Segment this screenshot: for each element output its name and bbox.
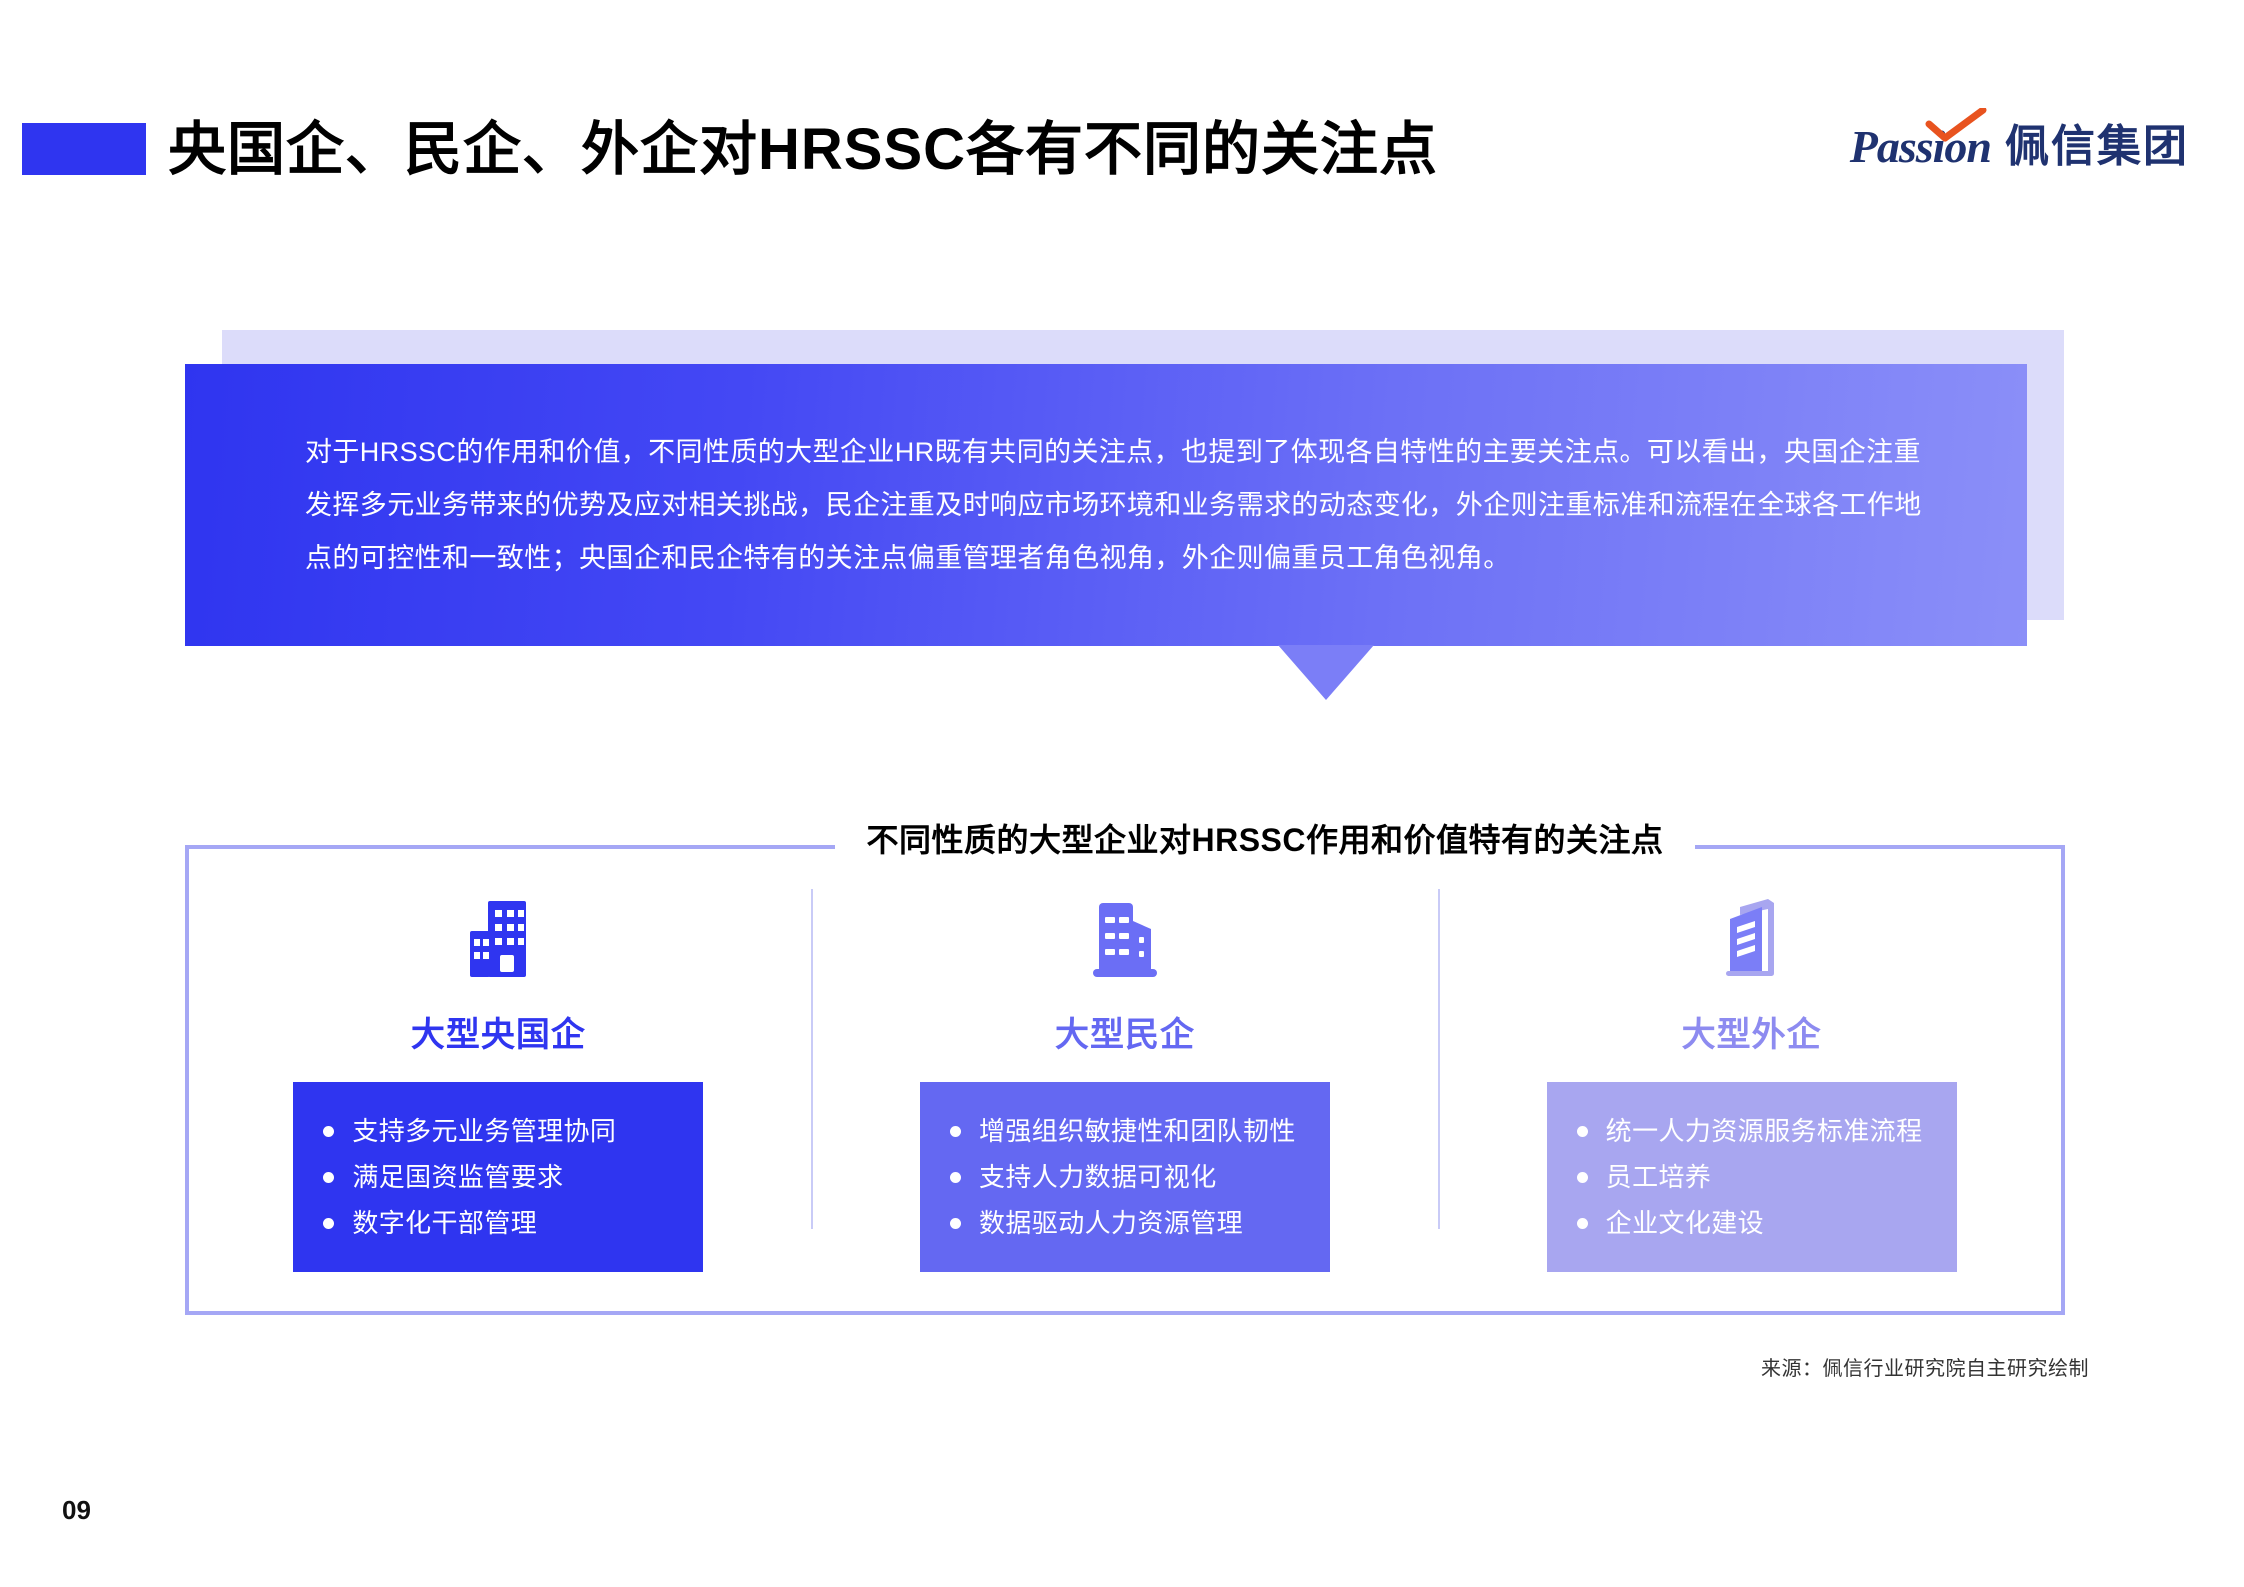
bullet-text: 增强组织敏捷性和团队韧性 [979,1108,1296,1154]
list-item: 数字化干部管理 [323,1200,703,1246]
comparison-panel: 不同性质的大型企业对HRSSC作用和价值特有的关注点 [185,845,2065,1315]
bullet-dot-icon [1577,1218,1588,1229]
bullet-dot-icon [323,1172,334,1183]
bullet-box-state-owned: 支持多元业务管理协同 满足国资监管要求 数字化干部管理 [293,1082,703,1272]
column-foreign: 大型外企 统一人力资源服务标准流程 员工培养 企业文化建设 [1438,845,2065,1315]
bullet-text: 企业文化建设 [1606,1200,1764,1246]
callout-pointer-arrow [1278,645,1374,700]
logo-chinese-name: 佩信集团 [2005,125,2189,169]
corporate-tower-icon [1706,893,1798,985]
callout-paragraph: 对于HRSSC的作用和价值，不同性质的大型企业HR既有共同的关注点，也提到了体现… [305,426,1945,585]
bullet-dot-icon [950,1126,961,1137]
bullet-dot-icon [950,1218,961,1229]
bullet-dot-icon [1577,1126,1588,1137]
source-note: 来源：佩信行业研究院自主研究绘制 [1761,1352,2089,1381]
office-building-windows-icon [1079,893,1171,985]
list-item: 增强组织敏捷性和团队韧性 [950,1108,1330,1154]
slide-header: 央国企、民企、外企对HRSSC各有不同的关注点 Passion 佩信集团 [0,110,2244,190]
list-item: 支持人力数据可视化 [950,1154,1330,1200]
logo-script-mark: Passion [1850,124,1991,170]
column-heading: 大型央国企 [411,1007,586,1056]
list-item: 企业文化建设 [1577,1200,1957,1246]
bullet-text: 数据驱动人力资源管理 [979,1200,1243,1246]
slide: 央国企、民企、外企对HRSSC各有不同的关注点 Passion 佩信集团 对于H… [0,0,2244,1587]
list-item: 员工培养 [1577,1154,1957,1200]
bullet-dot-icon [1577,1172,1588,1183]
column-heading: 大型民企 [1055,1007,1195,1056]
column-divider [1438,889,1440,1229]
page-title: 央国企、民企、外企对HRSSC各有不同的关注点 [168,102,1438,186]
bullet-dot-icon [323,1126,334,1137]
column-state-owned: 大型央国企 支持多元业务管理协同 满足国资监管要求 数字化干部管理 [185,845,812,1315]
check-mark-icon [1925,108,1987,142]
list-item: 满足国资监管要求 [323,1154,703,1200]
company-logo: Passion 佩信集团 [1850,110,2189,184]
page-number: 09 [62,1495,91,1526]
column-divider [811,889,813,1229]
bullet-text: 支持人力数据可视化 [979,1154,1217,1200]
list-item: 支持多元业务管理协同 [323,1108,703,1154]
bullet-text: 满足国资监管要求 [352,1154,563,1200]
bullet-text: 数字化干部管理 [352,1200,537,1246]
bullet-box-private: 增强组织敏捷性和团队韧性 支持人力数据可视化 数据驱动人力资源管理 [920,1082,1330,1272]
office-building-dots-icon [452,893,544,985]
comparison-columns: 大型央国企 支持多元业务管理协同 满足国资监管要求 数字化干部管理 [185,845,2065,1315]
list-item: 统一人力资源服务标准流程 [1577,1108,1957,1154]
summary-callout: 对于HRSSC的作用和价值，不同性质的大型企业HR既有共同的关注点，也提到了体现… [185,330,2085,710]
column-private: 大型民企 增强组织敏捷性和团队韧性 支持人力数据可视化 数据驱动人力资源管理 [812,845,1439,1315]
list-item: 数据驱动人力资源管理 [950,1200,1330,1246]
bullet-text: 员工培养 [1606,1154,1712,1200]
bullet-box-foreign: 统一人力资源服务标准流程 员工培养 企业文化建设 [1547,1082,1957,1272]
bullet-dot-icon [950,1172,961,1183]
bullet-text: 支持多元业务管理协同 [352,1108,616,1154]
bullet-dot-icon [323,1218,334,1229]
bullet-text: 统一人力资源服务标准流程 [1606,1108,1923,1154]
title-accent-bar [22,123,146,175]
column-heading: 大型外企 [1682,1007,1822,1056]
callout-panel: 对于HRSSC的作用和价值，不同性质的大型企业HR既有共同的关注点，也提到了体现… [185,364,2027,646]
